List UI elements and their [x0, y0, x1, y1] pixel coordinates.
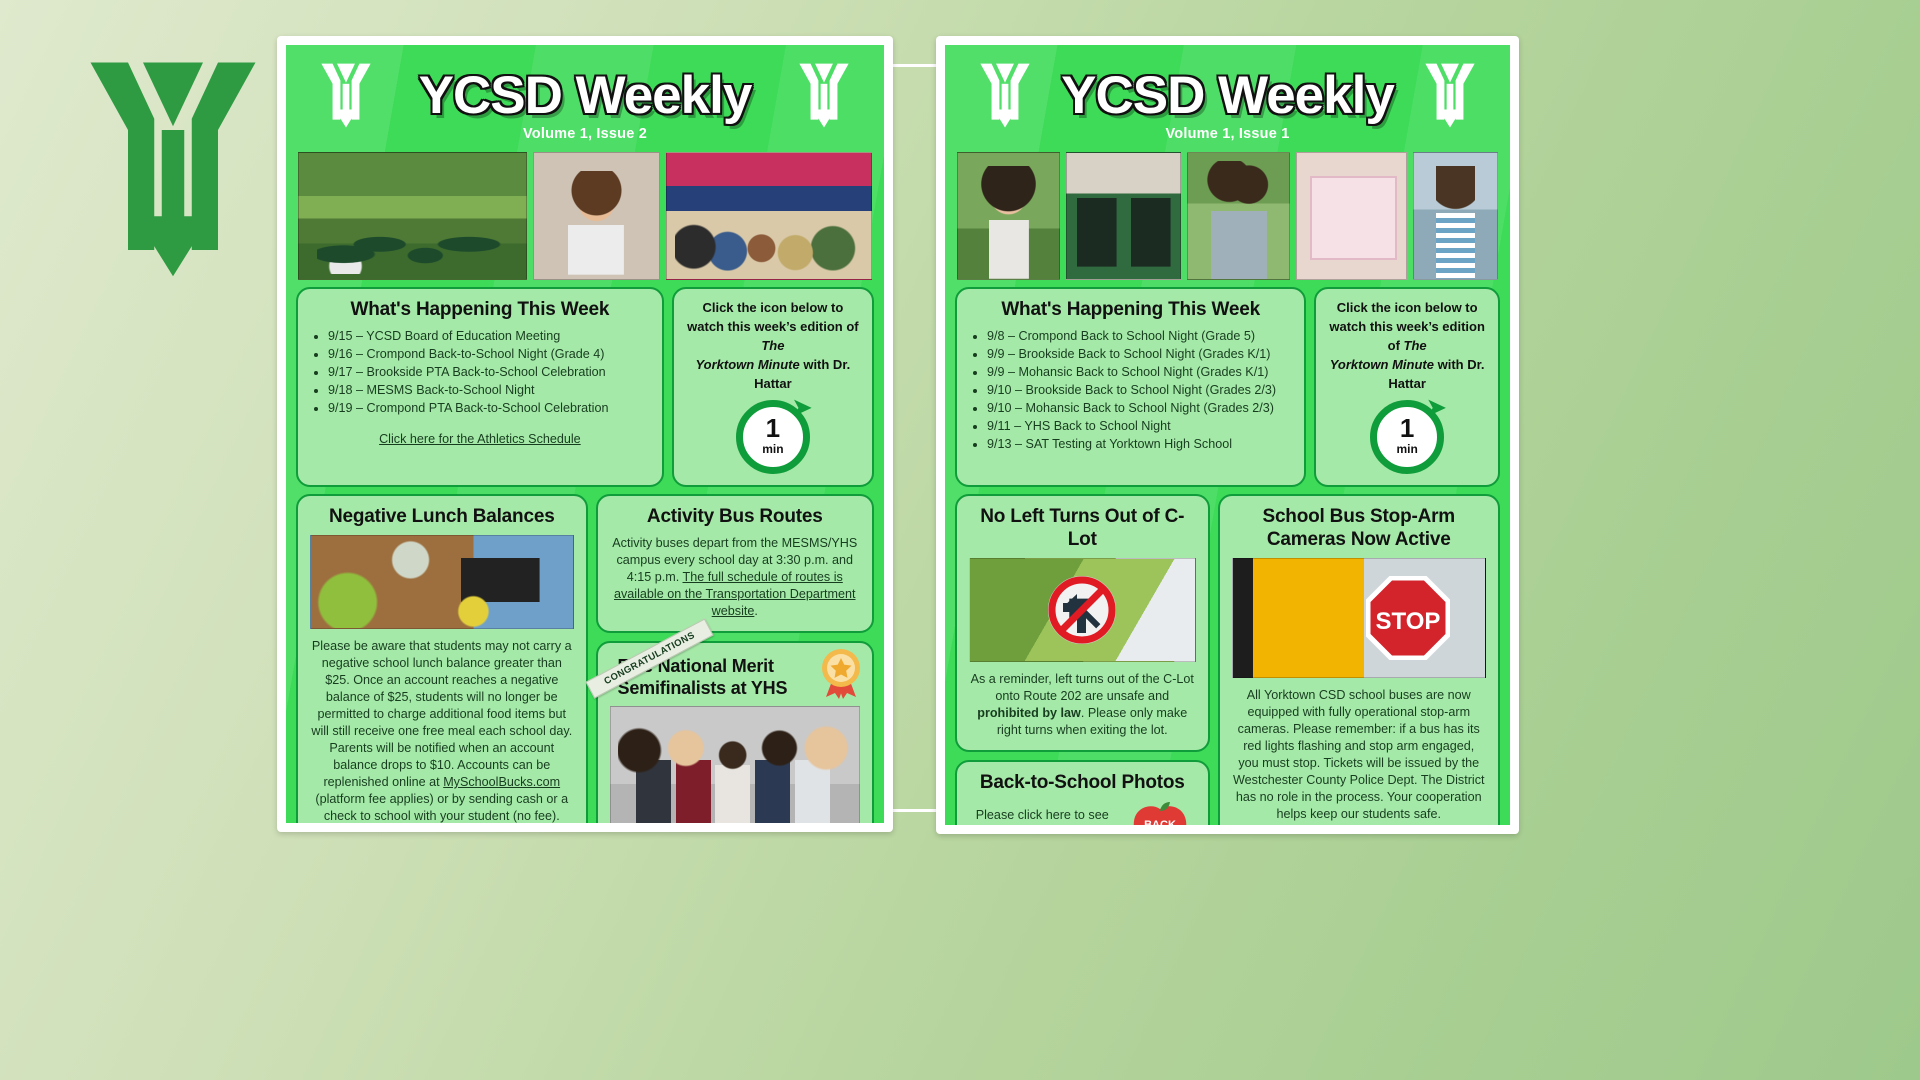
- photo-strip-right: [957, 152, 1498, 280]
- list-item: 9/17 – Brookside PTA Back-to-School Cele…: [328, 364, 650, 381]
- list-item: 9/9 – Brookside Back to School Night (Gr…: [987, 346, 1292, 363]
- negative-lunch-body-2: (platform fee applies) or by sending cas…: [315, 792, 568, 823]
- whats-happening-box-right: What's Happening This Week 9/8 – Crompon…: [955, 287, 1306, 487]
- back-to-school-apple-icon[interactable]: BACK to SCHOOL: [1124, 801, 1196, 825]
- background-ycsd-logo-watermark: [78, 55, 268, 280]
- no-left-turn-sign-photo: [969, 558, 1196, 662]
- whats-happening-heading: What's Happening This Week: [310, 298, 650, 321]
- timer-number: 1: [736, 415, 810, 441]
- video-line-2: watch this week’s edition of: [687, 319, 858, 334]
- page-connector: [889, 64, 941, 812]
- no-left-turns-heading: No Left Turns Out of C-Lot: [969, 505, 1196, 551]
- timer-number: 1: [1370, 415, 1444, 441]
- list-item: 9/8 – Crompond Back to School Night (Gra…: [987, 328, 1292, 345]
- video-line-3-italic: Yorktown Minute: [695, 357, 799, 372]
- school-bus-stop-arm-photo: STOP: [1232, 558, 1487, 678]
- ycsd-logo-icon: [318, 55, 374, 135]
- stop-sign-icon: STOP: [1366, 576, 1450, 660]
- list-item: 9/13 – SAT Testing at Yorktown High Scho…: [987, 436, 1292, 453]
- list-item: 9/10 – Brookside Back to School Night (G…: [987, 382, 1292, 399]
- girl-with-backpack-photo: [957, 152, 1060, 280]
- stop-arm-heading-line-1: School Bus Stop-Arm: [1262, 506, 1455, 527]
- video-callout-box-left: Click the icon below to watch this week’…: [672, 287, 874, 487]
- volume-issue-label: Volume 1, Issue 1: [955, 126, 1500, 142]
- list-item: 9/19 – Crompond PTA Back-to-School Celeb…: [328, 400, 650, 417]
- marching-band-students-photo: [298, 152, 527, 280]
- negative-lunch-balances-box: Negative Lunch Balances Please be aware …: [296, 494, 588, 823]
- classroom-students-holding-books-photo: [666, 152, 872, 280]
- negative-lunch-heading: Negative Lunch Balances: [310, 505, 574, 528]
- students-hugging-photo: [1187, 152, 1290, 280]
- list-item: 9/11 – YHS Back to School Night: [987, 418, 1292, 435]
- video-line-3-italic: Yorktown Minute: [1330, 357, 1434, 372]
- athletics-schedule-link[interactable]: Click here for the Athletics Schedule: [379, 432, 581, 446]
- girl-striped-shirt-photo: [1413, 152, 1498, 280]
- five-national-merit-semifinalists-group-photo: [610, 706, 860, 823]
- newsletter-title: YCSD Weekly: [955, 53, 1500, 125]
- stop-arm-cameras-box: School Bus Stop-Arm Cameras Now Active S…: [1218, 494, 1501, 825]
- volume-issue-label: Volume 1, Issue 2: [296, 126, 874, 142]
- svg-text:BACK: BACK: [1144, 819, 1176, 825]
- back-to-school-photos-box: Back-to-School Photos Please click here …: [955, 760, 1210, 825]
- video-callout-box-right: Click the icon below to watch this week’…: [1314, 287, 1500, 487]
- activity-bus-heading: Activity Bus Routes: [610, 505, 860, 528]
- negative-lunch-body-1: Please be aware that students may not ca…: [311, 639, 572, 789]
- whats-happening-list: 9/15 – YCSD Board of Education Meeting 9…: [328, 328, 650, 417]
- no-left-turns-box: No Left Turns Out of C-Lot As a reminder…: [955, 494, 1210, 752]
- activity-bus-routes-box: Activity Bus Routes Activity buses depar…: [596, 494, 874, 633]
- boys-with-chalkboard-signs-photo: [1066, 152, 1181, 280]
- whats-happening-heading: What's Happening This Week: [969, 298, 1292, 321]
- list-item: 9/18 – MESMS Back-to-School Night: [328, 382, 650, 399]
- ycsd-logo-icon: [1422, 55, 1478, 135]
- no-left-turns-body-1: As a reminder, left turns out of the C-L…: [971, 672, 1194, 703]
- svg-text:STOP: STOP: [1375, 608, 1440, 635]
- masthead-left: YCSD Weekly Volume 1, Issue 2: [296, 53, 874, 145]
- video-line-1: Click the icon below to: [1337, 300, 1478, 315]
- activity-bus-body-2: .: [754, 604, 758, 618]
- list-item: 9/15 – YCSD Board of Education Meeting: [328, 328, 650, 345]
- newsletter-page-issue-1: YCSD Weekly Volume 1, Issue 1 What's Hap…: [936, 36, 1519, 834]
- stop-arm-heading-line-2: Cameras Now Active: [1267, 529, 1451, 550]
- student-holding-buyer-beware-newspaper-photo: [533, 152, 660, 280]
- back-to-school-photos-heading: Back-to-School Photos: [969, 771, 1196, 794]
- ycsd-logo-icon: [977, 55, 1033, 135]
- newsletter-title: YCSD Weekly: [296, 53, 874, 125]
- photo-strip-left: [298, 152, 872, 280]
- ycsd-logo-icon: [796, 55, 852, 135]
- list-item: 9/16 – Crompond Back-to-School Night (Gr…: [328, 346, 650, 363]
- hello-5th-grade-sign-photo: [1296, 152, 1407, 280]
- list-item: 9/9 – Mohansic Back to School Night (Gra…: [987, 364, 1292, 381]
- back-to-school-photos-body: Please click here to see the full galler…: [969, 807, 1116, 826]
- stop-arm-heading: School Bus Stop-Arm Cameras Now Active: [1232, 505, 1487, 551]
- award-medal-icon: [818, 647, 864, 699]
- video-line-1: Click the icon below to: [702, 300, 843, 315]
- newsletter-page-issue-2: YCSD Weekly Volume 1, Issue 2 What's Hap…: [277, 36, 893, 832]
- one-minute-timer-icon[interactable]: ➤ 1 min: [1370, 400, 1444, 474]
- no-left-turn-icon: [1045, 573, 1119, 647]
- myschoolbucks-link[interactable]: MySchoolBucks.com: [443, 775, 560, 789]
- list-item: 9/10 – Mohansic Back to School Night (Gr…: [987, 400, 1292, 417]
- timer-unit: min: [1370, 442, 1444, 456]
- no-left-turns-body-bold: prohibited by law: [977, 706, 1081, 720]
- masthead-right: YCSD Weekly Volume 1, Issue 1: [955, 53, 1500, 145]
- video-line-2-italic: The: [1404, 338, 1427, 353]
- timer-unit: min: [736, 442, 810, 456]
- whats-happening-list: 9/8 – Crompond Back to School Night (Gra…: [987, 328, 1292, 453]
- stop-arm-body: All Yorktown CSD school buses are now eq…: [1232, 687, 1487, 823]
- one-minute-timer-icon[interactable]: ➤ 1 min: [736, 400, 810, 474]
- school-lunch-chalkboard-photo: [310, 535, 574, 629]
- video-line-2-italic: The: [761, 338, 784, 353]
- national-merit-box: CONGRATULATIONS Five National Merit Semi…: [596, 641, 874, 823]
- whats-happening-box-left: What's Happening This Week 9/15 – YCSD B…: [296, 287, 664, 487]
